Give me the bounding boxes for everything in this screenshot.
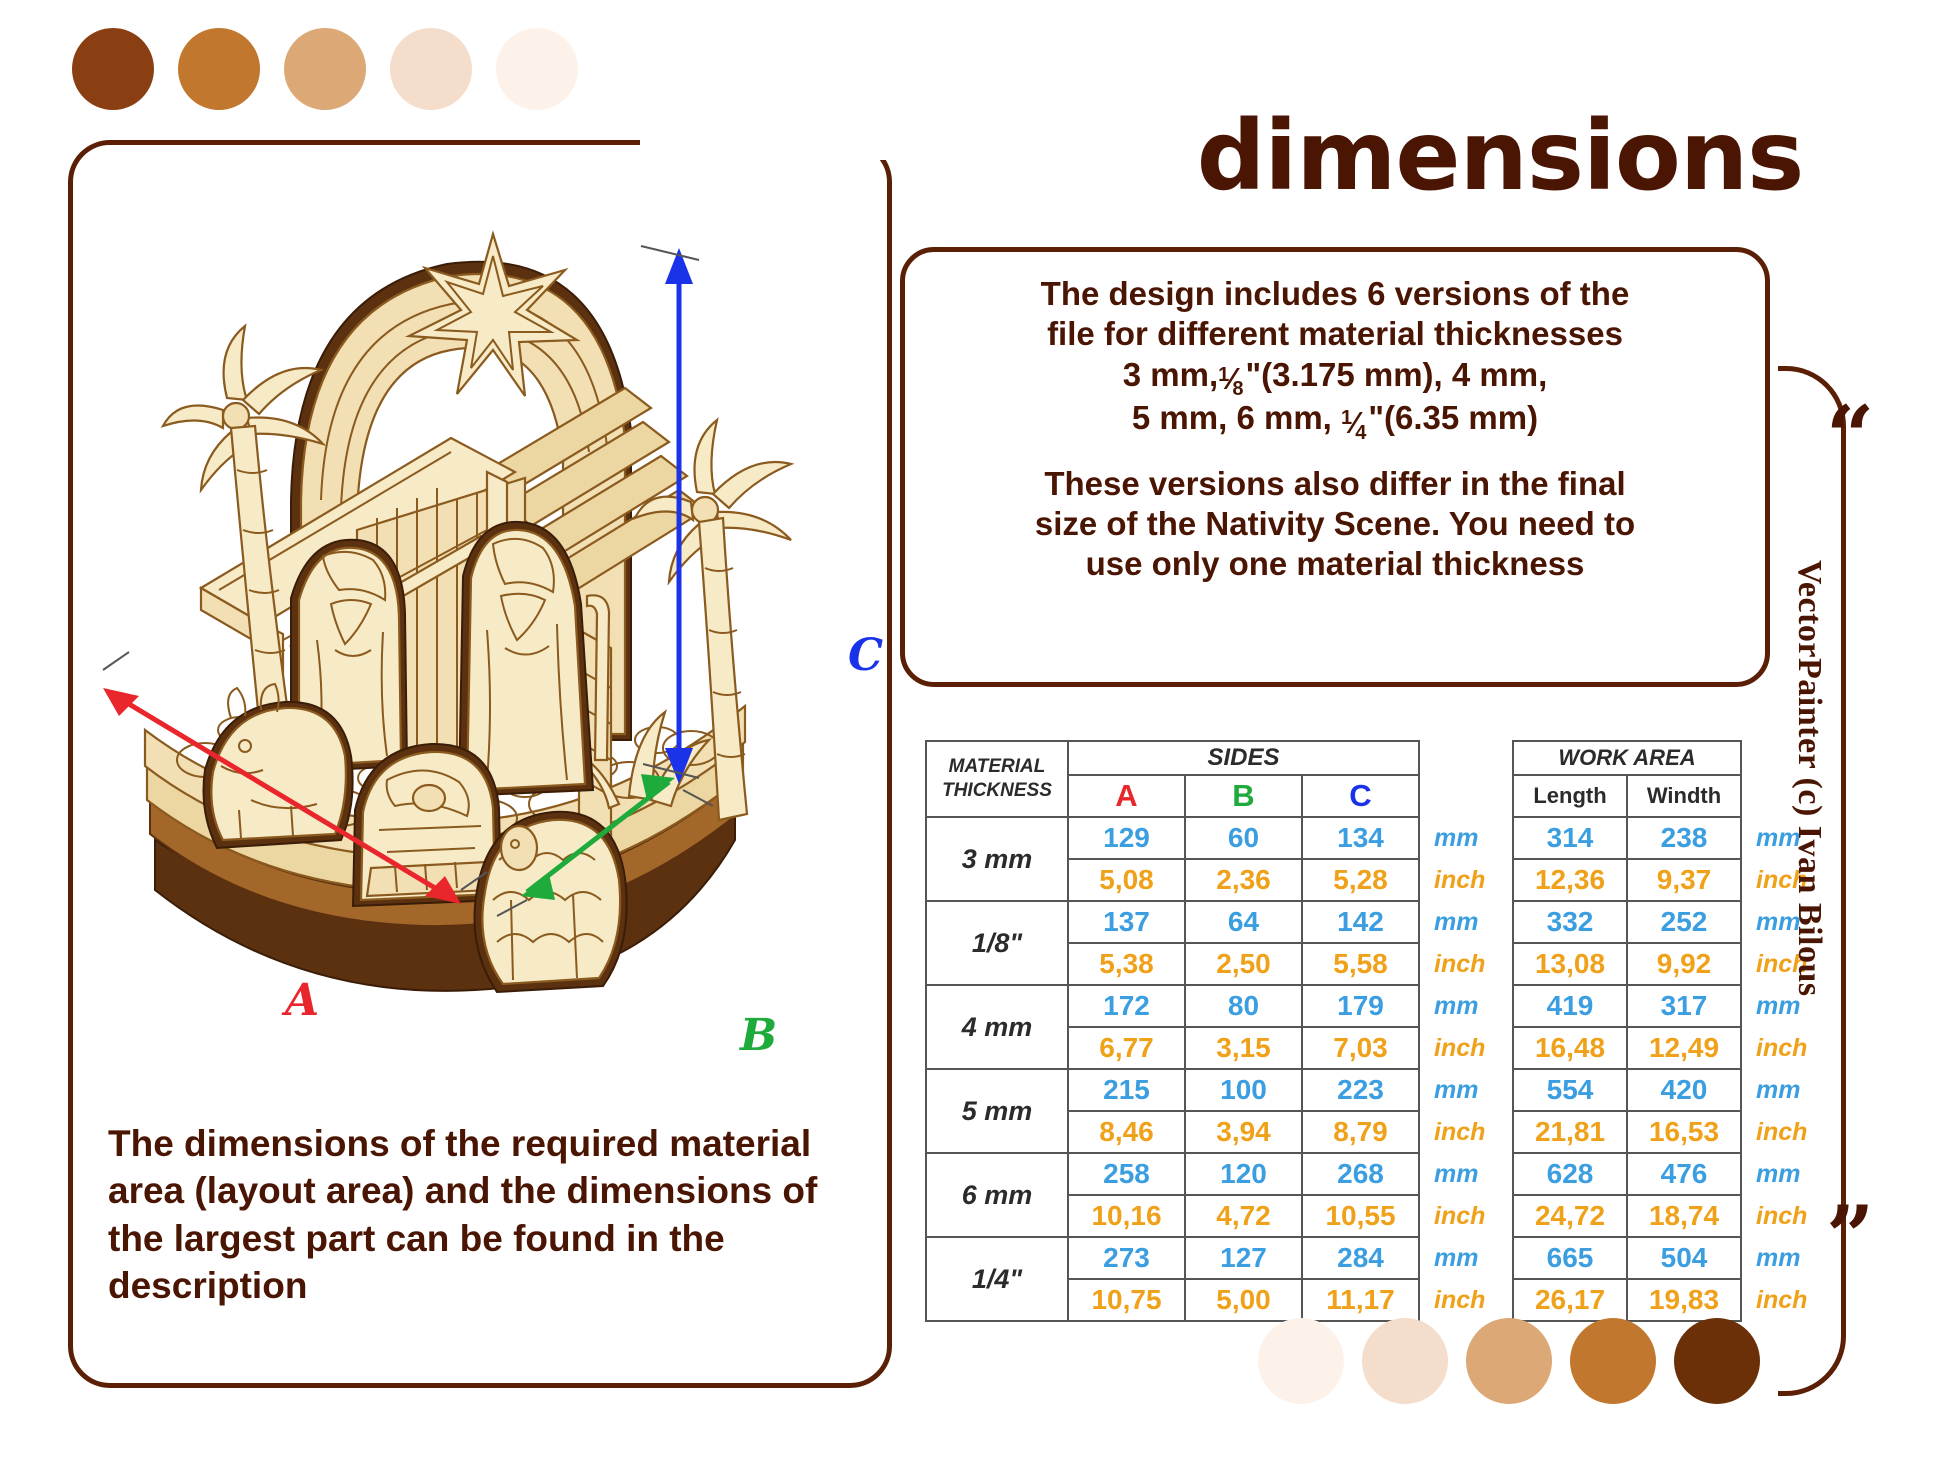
table-row-header-1: MATERIAL THICKNESS SIDES <box>926 741 1486 775</box>
cell-4-mm-c: 268 <box>1302 1153 1419 1195</box>
table-row: 314 238 mm <box>1513 817 1808 859</box>
bottom-color-palette <box>1258 1318 1760 1404</box>
cell-5-mm-b: 127 <box>1185 1237 1302 1279</box>
wa-cell-1-mm-width: 252 <box>1627 901 1741 943</box>
palette-dot-4 <box>390 28 472 110</box>
dimension-label-b: B <box>740 1010 777 1061</box>
header-work-area-group: WORK AREA <box>1513 741 1741 775</box>
cell-0-mm-b: 60 <box>1185 817 1302 859</box>
cell-5-in-b: 5,00 <box>1185 1279 1302 1321</box>
page-title: dimensions <box>1150 108 1850 204</box>
row-thickness-3: 5 mm <box>926 1069 1068 1153</box>
cell-5-mm-c: 284 <box>1302 1237 1419 1279</box>
top-color-palette <box>72 28 578 110</box>
table-row: 6 mm 258 120 268 mm <box>926 1153 1486 1195</box>
header-col-b: B <box>1185 775 1302 817</box>
info-p2-line3: use only one material thickness <box>1086 545 1585 582</box>
unit-mm: mm <box>1419 1237 1486 1279</box>
cell-0-in-a: 5,08 <box>1068 859 1185 901</box>
unit-inch: inch <box>1419 1111 1486 1153</box>
row-thickness-2: 4 mm <box>926 985 1068 1069</box>
cell-2-mm-c: 179 <box>1302 985 1419 1027</box>
table-row: 3 mm 129 60 134 mm <box>926 817 1486 859</box>
wa-cell-5-mm-width: 504 <box>1627 1237 1741 1279</box>
table-row: 24,72 18,74 inch <box>1513 1195 1808 1237</box>
quote-open-mark: “ <box>1826 408 1874 467</box>
wa-cell-2-in-length: 16,48 <box>1513 1027 1627 1069</box>
palette-dot-b4 <box>1570 1318 1656 1404</box>
wa-cell-5-in-width: 19,83 <box>1627 1279 1741 1321</box>
row-thickness-5: 1/4" <box>926 1237 1068 1321</box>
sides-dimensions-table: MATERIAL THICKNESS SIDES A B C 3 mm 129 … <box>925 740 1487 1322</box>
wa-cell-4-in-width: 18,74 <box>1627 1195 1741 1237</box>
dimension-label-c: C <box>848 630 883 681</box>
palette-dot-b1 <box>1258 1318 1344 1404</box>
wa-cell-2-mm-width: 317 <box>1627 985 1741 1027</box>
info-paragraph-2: These versions also differ in the final … <box>905 464 1765 585</box>
unit-mm: mm <box>1419 985 1486 1027</box>
palette-dot-1 <box>72 28 154 110</box>
frame-gap-mask <box>640 120 940 160</box>
table-row: 21,81 16,53 inch <box>1513 1111 1808 1153</box>
cell-0-mm-a: 129 <box>1068 817 1185 859</box>
cell-5-in-a: 10,75 <box>1068 1279 1185 1321</box>
wa-cell-0-mm-width: 238 <box>1627 817 1741 859</box>
cell-2-in-c: 7,03 <box>1302 1027 1419 1069</box>
cell-1-in-b: 2,50 <box>1185 943 1302 985</box>
cell-2-mm-a: 172 <box>1068 985 1185 1027</box>
cell-4-in-c: 10,55 <box>1302 1195 1419 1237</box>
cell-4-in-b: 4,72 <box>1185 1195 1302 1237</box>
unit-inch: inch <box>1419 1027 1486 1069</box>
unit-mm: mm <box>1419 1153 1486 1195</box>
wa-cell-4-in-length: 24,72 <box>1513 1195 1627 1237</box>
wa-cell-0-in-width: 9,37 <box>1627 859 1741 901</box>
work-area-table: WORK AREA Length Windth 314 238 mm 12,36… <box>1512 740 1809 1322</box>
info-box: The design includes 6 versions of the fi… <box>900 247 1770 687</box>
cell-0-in-b: 2,36 <box>1185 859 1302 901</box>
cell-3-in-b: 3,94 <box>1185 1111 1302 1153</box>
info-p1-line4b: "(6.35 mm) <box>1368 399 1538 436</box>
dimension-label-a: A <box>285 975 319 1026</box>
row-thickness-0: 3 mm <box>926 817 1068 901</box>
palette-dot-b3 <box>1466 1318 1552 1404</box>
palette-dot-5 <box>496 28 578 110</box>
cell-4-mm-a: 258 <box>1068 1153 1185 1195</box>
row-thickness-1: 1/8" <box>926 901 1068 985</box>
table-row: 26,17 19,83 inch <box>1513 1279 1808 1321</box>
cell-1-in-a: 5,38 <box>1068 943 1185 985</box>
spacer-cell <box>1419 775 1486 817</box>
cell-3-in-a: 8,46 <box>1068 1111 1185 1153</box>
palette-dot-3 <box>284 28 366 110</box>
cell-1-in-c: 5,58 <box>1302 943 1419 985</box>
unit-inch: inch <box>1419 1195 1486 1237</box>
unit-inch: inch <box>1419 859 1486 901</box>
table-row: 12,36 9,37 inch <box>1513 859 1808 901</box>
cell-0-mm-c: 134 <box>1302 817 1419 859</box>
info-p1-line3b: "(3.175 mm), 4 mm, <box>1245 356 1547 393</box>
wa-cell-4-mm-length: 628 <box>1513 1153 1627 1195</box>
description-note: The dimensions of the required material … <box>108 1120 868 1309</box>
cell-3-mm-a: 215 <box>1068 1069 1185 1111</box>
wa-cell-1-in-width: 9,92 <box>1627 943 1741 985</box>
palette-dot-b5 <box>1674 1318 1760 1404</box>
header-col-length: Length <box>1513 775 1627 817</box>
credit-text: VectorPainter (c) Ivan Bilous <box>1790 560 1828 997</box>
nativity-scene-illustration: .w { fill:#f7eac6; stroke:#8a5a1e; strok… <box>95 200 855 1100</box>
wa-cell-2-mm-length: 419 <box>1513 985 1627 1027</box>
cell-3-in-c: 8,79 <box>1302 1111 1419 1153</box>
table-row: 13,08 9,92 inch <box>1513 943 1808 985</box>
cell-2-in-a: 6,77 <box>1068 1027 1185 1069</box>
row-thickness-4: 6 mm <box>926 1153 1068 1237</box>
table-row: 554 420 mm <box>1513 1069 1808 1111</box>
wa-cell-3-mm-width: 420 <box>1627 1069 1741 1111</box>
header-sides-group: SIDES <box>1068 741 1419 775</box>
table-row: 1/8" 137 64 142 mm <box>926 901 1486 943</box>
cell-1-mm-a: 137 <box>1068 901 1185 943</box>
cell-5-in-c: 11,17 <box>1302 1279 1419 1321</box>
table-row-header-2: Length Windth <box>1513 775 1808 817</box>
table-row: 665 504 mm <box>1513 1237 1808 1279</box>
cell-4-in-a: 10,16 <box>1068 1195 1185 1237</box>
spacer-cell <box>1419 741 1486 775</box>
info-p1-line3a: 3 mm, <box>1123 356 1218 393</box>
table-row: 16,48 12,49 inch <box>1513 1027 1808 1069</box>
info-p2-line1: These versions also differ in the final <box>1044 465 1625 502</box>
wa-cell-1-in-length: 13,08 <box>1513 943 1627 985</box>
unit-mm: mm <box>1419 901 1486 943</box>
unit-inch: inch <box>1419 943 1486 985</box>
table-row: 4 mm 172 80 179 mm <box>926 985 1486 1027</box>
table-row: 419 317 mm <box>1513 985 1808 1027</box>
wa-cell-5-mm-length: 665 <box>1513 1237 1627 1279</box>
header-material-thickness-label: MATERIAL THICKNESS <box>942 756 1052 801</box>
info-p1-line4a: 5 mm, 6 mm, <box>1132 399 1341 436</box>
cell-4-mm-b: 120 <box>1185 1153 1302 1195</box>
table-row-header-1: WORK AREA <box>1513 741 1808 775</box>
cell-3-mm-c: 223 <box>1302 1069 1419 1111</box>
table-row: 628 476 mm <box>1513 1153 1808 1195</box>
cell-2-in-b: 3,15 <box>1185 1027 1302 1069</box>
info-p1-line2: file for different material thicknesses <box>1047 315 1623 352</box>
palette-dot-b2 <box>1362 1318 1448 1404</box>
cell-5-mm-a: 273 <box>1068 1237 1185 1279</box>
wa-cell-4-mm-width: 476 <box>1627 1153 1741 1195</box>
fraction-one-eighth: 1⁄8 <box>1218 361 1245 398</box>
header-col-a: A <box>1068 775 1185 817</box>
wa-cell-1-mm-length: 332 <box>1513 901 1627 943</box>
wa-cell-3-in-width: 16,53 <box>1627 1111 1741 1153</box>
info-p1-line1: The design includes 6 versions of the <box>1041 275 1630 312</box>
unit-mm: mm <box>1419 817 1486 859</box>
cell-2-mm-b: 80 <box>1185 985 1302 1027</box>
table-row: 1/4" 273 127 284 mm <box>926 1237 1486 1279</box>
info-paragraph-1: The design includes 6 versions of the fi… <box>905 274 1765 442</box>
cell-3-mm-b: 100 <box>1185 1069 1302 1111</box>
cell-0-in-c: 5,28 <box>1302 859 1419 901</box>
cell-1-mm-b: 64 <box>1185 901 1302 943</box>
fraction-one-quarter: 1⁄4 <box>1341 405 1368 442</box>
wa-cell-0-mm-length: 314 <box>1513 817 1627 859</box>
info-p2-line2: size of the Nativity Scene. You need to <box>1035 505 1635 542</box>
wa-cell-3-in-length: 21,81 <box>1513 1111 1627 1153</box>
palette-dot-2 <box>178 28 260 110</box>
unit-inch: inch <box>1419 1279 1486 1321</box>
wa-cell-0-in-length: 12,36 <box>1513 859 1627 901</box>
table-row: 5 mm 215 100 223 mm <box>926 1069 1486 1111</box>
header-col-width: Windth <box>1627 775 1741 817</box>
unit-mm: mm <box>1419 1069 1486 1111</box>
quote-close-mark: ” <box>1826 1208 1874 1267</box>
wa-cell-2-in-width: 12,49 <box>1627 1027 1741 1069</box>
table-row: 332 252 mm <box>1513 901 1808 943</box>
wa-cell-3-mm-length: 554 <box>1513 1069 1627 1111</box>
cell-1-mm-c: 142 <box>1302 901 1419 943</box>
header-col-c: C <box>1302 775 1419 817</box>
header-material-thickness: MATERIAL THICKNESS <box>926 741 1068 817</box>
wa-cell-5-in-length: 26,17 <box>1513 1279 1627 1321</box>
